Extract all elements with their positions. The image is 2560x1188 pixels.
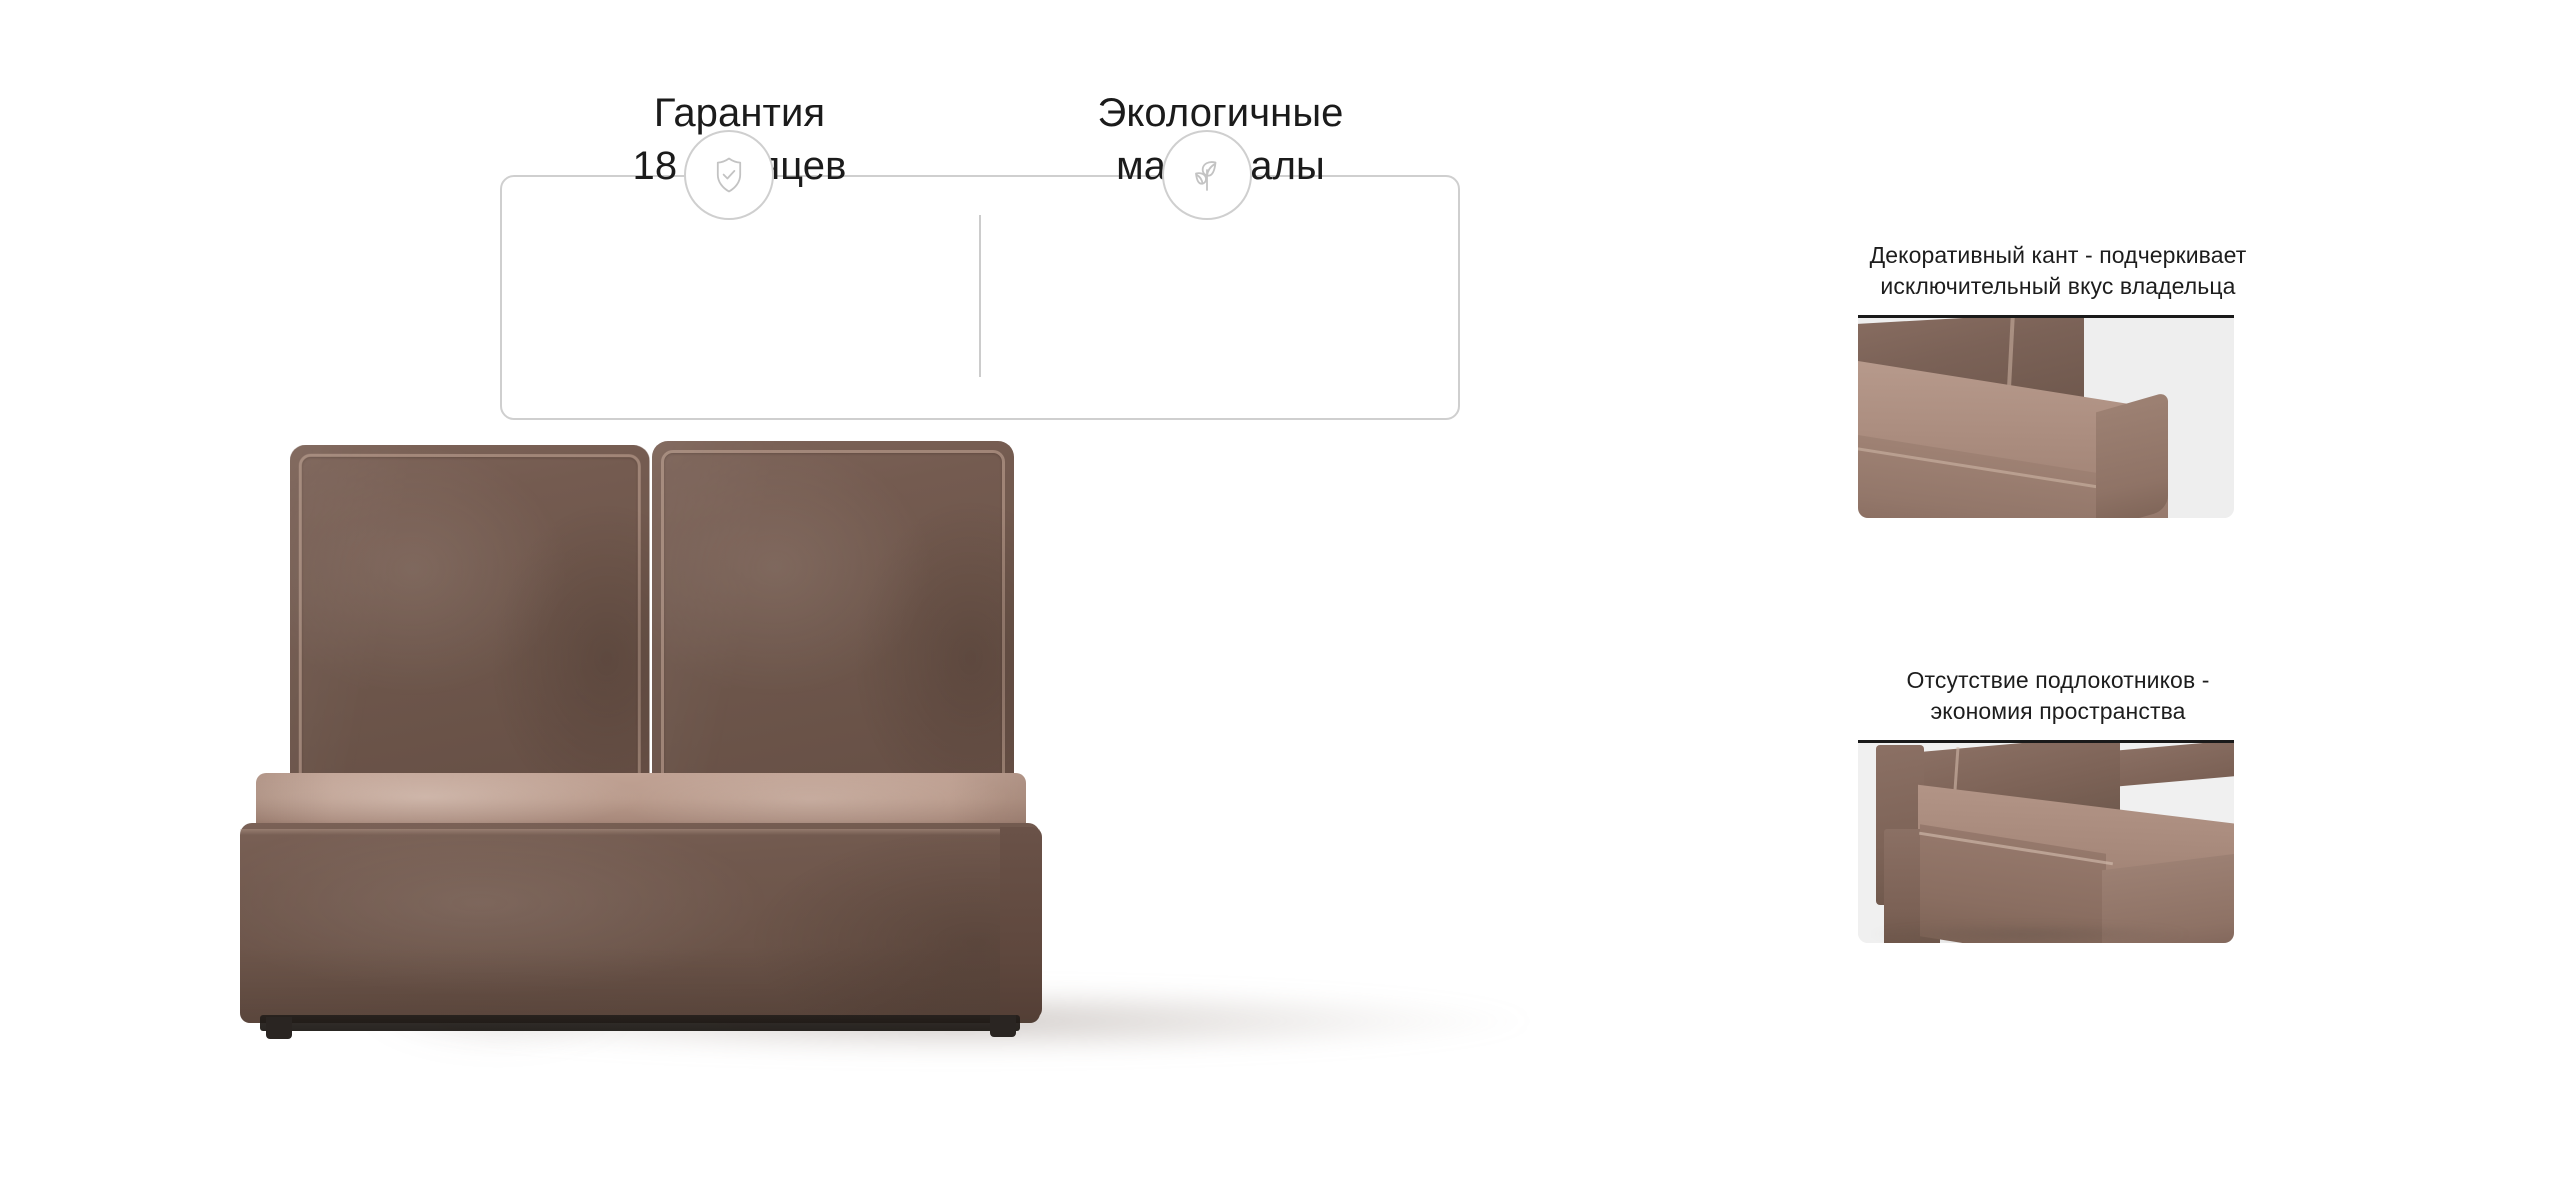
- main-product-image: [300, 455, 1620, 1085]
- sofa-back-cushion-left: [290, 445, 650, 790]
- feature-caption-no-armrests: Отсутствие подлокотников - экономия прос…: [1858, 665, 2258, 726]
- badge-eco-line1: Экологичные: [1097, 89, 1343, 138]
- sofa-back-cushion-right: [652, 441, 1014, 791]
- sofa-under-frame: [260, 1015, 1020, 1031]
- sofa-base-side-panel: [1000, 827, 1042, 1019]
- thumb2-floor-shadow: [1868, 921, 2228, 943]
- feature-thumbnail-piping[interactable]: [1858, 318, 2234, 518]
- feature-card-no-armrests: Отсутствие подлокотников - экономия прос…: [1858, 665, 2258, 943]
- badge-warranty-line1: Гарантия: [654, 89, 825, 138]
- infographic-canvas: Гарантия 18 месяцев Экологичные материал…: [0, 0, 2560, 1188]
- thumb-right-face: [2096, 392, 2168, 518]
- warranty-medallion: [684, 130, 774, 220]
- sofa-leg-right: [990, 1015, 1016, 1037]
- feature-caption-piping: Декоративный кант - подчеркивает исключи…: [1858, 240, 2258, 301]
- feature-thumbnail-no-armrests[interactable]: [1858, 743, 2234, 943]
- eco-medallion: [1162, 130, 1252, 220]
- eco-leaf-icon: [1184, 152, 1230, 198]
- shield-check-icon: [706, 152, 752, 198]
- sofa-leg-left: [266, 1017, 292, 1039]
- feature-card-piping: Декоративный кант - подчеркивает исключи…: [1858, 240, 2258, 518]
- sofa-base: [240, 823, 1040, 1023]
